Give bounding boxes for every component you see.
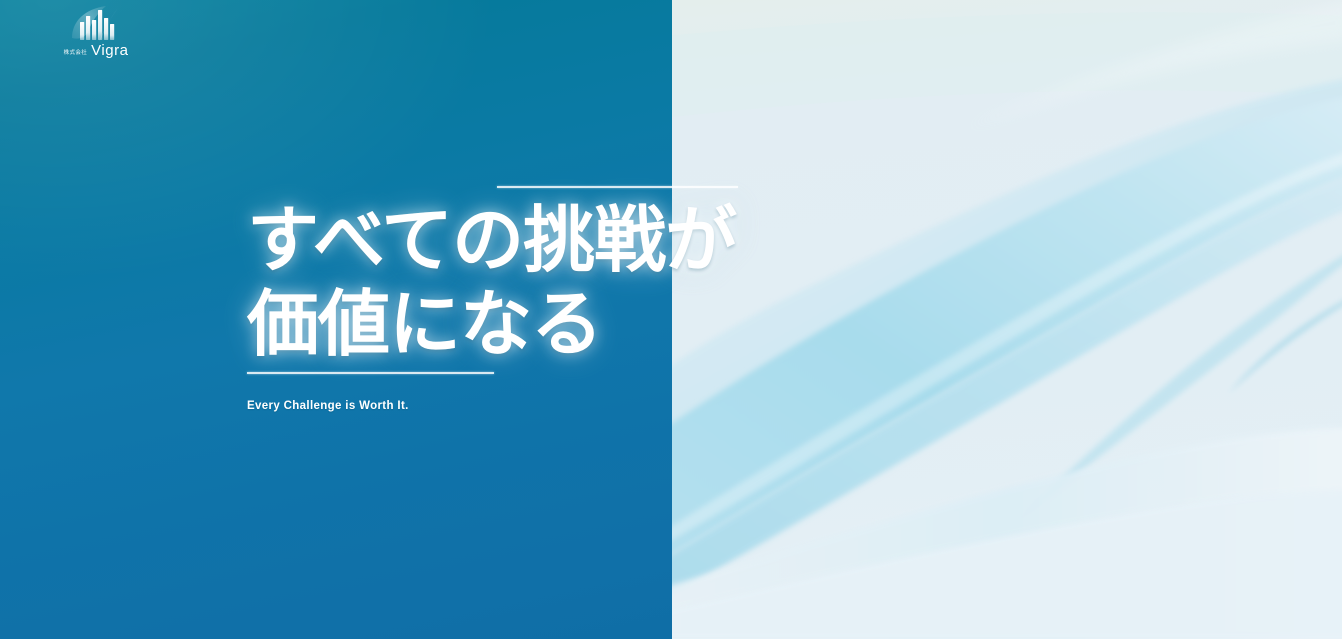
bar-chart-swoosh-logo-icon xyxy=(68,4,124,42)
brand-logo[interactable]: 株式会社 Vigra xyxy=(36,4,156,62)
hero-rule-bottom xyxy=(247,372,494,374)
hero-text-block: すべての挑戦が 価値になる Every Challenge is Worth I… xyxy=(247,186,1007,412)
logo-prefix-text: 株式会社 xyxy=(64,48,88,56)
hero-subtitle: Every Challenge is Worth It. xyxy=(247,400,1007,412)
logo-wordmark: 株式会社 Vigra xyxy=(64,43,129,58)
logo-brand-name: Vigra xyxy=(91,43,128,58)
presentation-slide: 株式会社 Vigra すべての挑戦が 価値になる Every Challenge… xyxy=(0,0,1342,639)
page-title: すべての挑戦が 価値になる xyxy=(247,198,1007,366)
hero-rule-top xyxy=(497,186,738,188)
